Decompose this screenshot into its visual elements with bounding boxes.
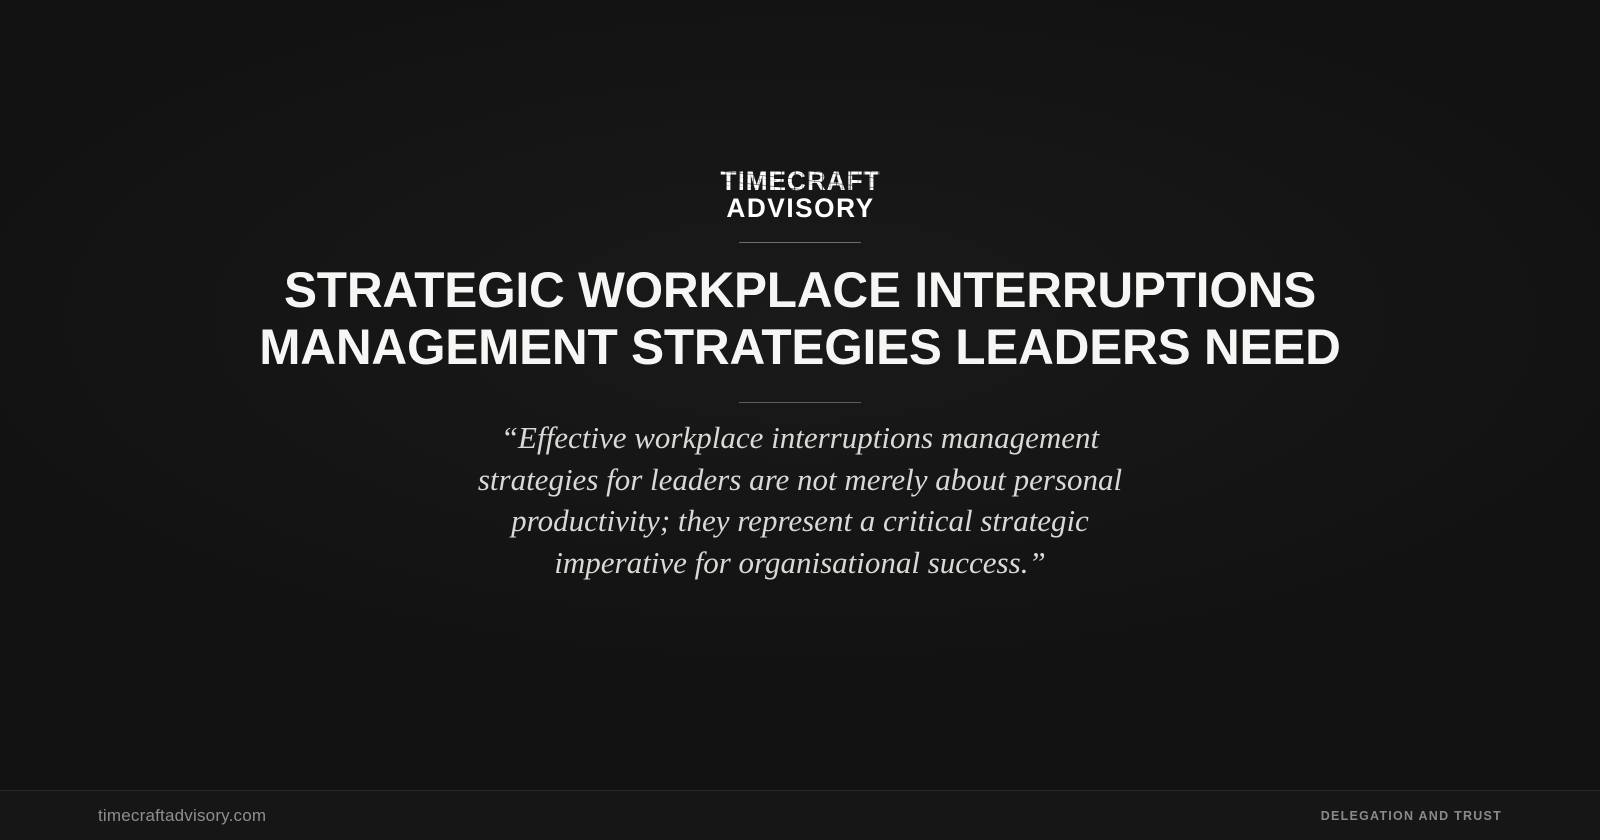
footer-topic-label: DELEGATION AND TRUST — [1321, 809, 1502, 823]
logo-divider-rule — [739, 242, 861, 243]
logo-line-advisory: ADVISORY — [726, 195, 874, 221]
logo-wordmark: TIMECRAFT ADVISORY — [720, 168, 880, 221]
headline-divider-rule — [739, 402, 861, 403]
page-title-line-2: MANAGEMENT STRATEGIES LEADERS NEED — [8, 319, 1592, 376]
pull-quote: “Effective workplace interruptions manag… — [450, 417, 1150, 583]
page-title-line-1: STRATEGIC WORKPLACE INTERRUPTIONS — [8, 262, 1592, 319]
title-slide: TIMECRAFT ADVISORY STRATEGIC WORKPLACE I… — [0, 0, 1600, 840]
slide-footer: timecraftadvisory.com DELEGATION AND TRU… — [0, 790, 1600, 840]
logo-line-timecraft: TIMECRAFT — [720, 168, 880, 194]
footer-website-url[interactable]: timecraftadvisory.com — [98, 806, 266, 826]
page-title: STRATEGIC WORKPLACE INTERRUPTIONS MANAGE… — [8, 262, 1592, 376]
brand-logo: TIMECRAFT ADVISORY — [0, 168, 1600, 243]
